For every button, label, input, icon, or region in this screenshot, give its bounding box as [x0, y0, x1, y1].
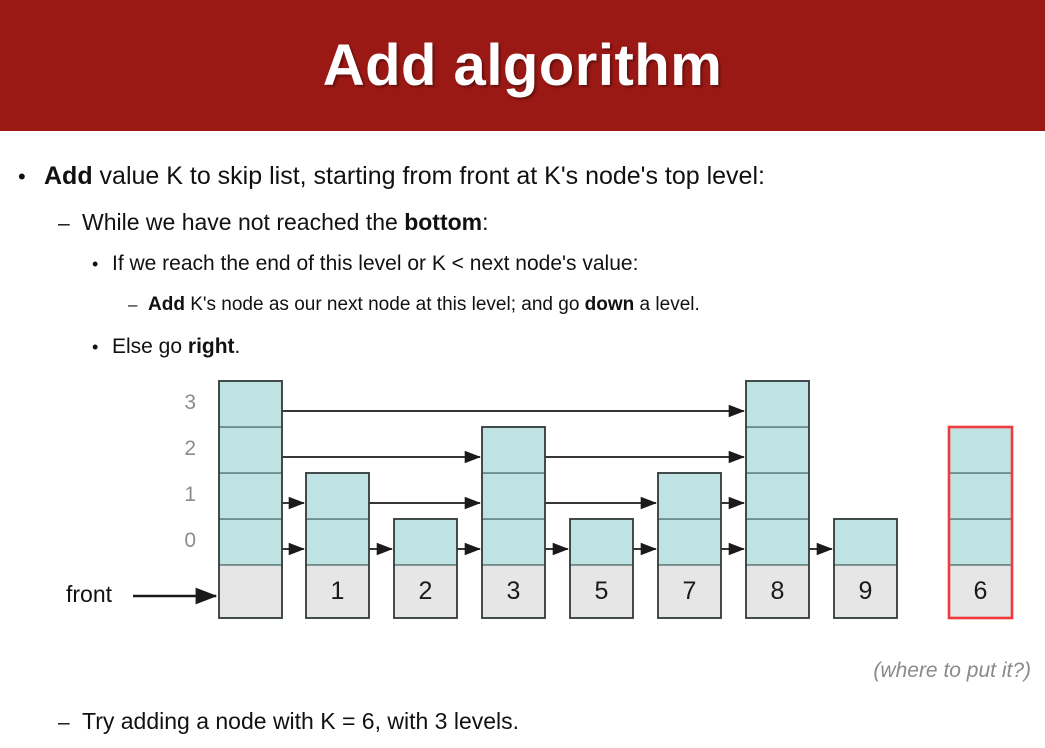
footnote-where-to-put-it: (where to put it?) [873, 659, 1031, 683]
bullet-level3-else-post: . [235, 335, 241, 358]
bullet-marker-dot-icon: • [92, 254, 112, 275]
bullet-level1-rest: value K to skip list, starting from fron… [93, 162, 765, 190]
node-value-2: 2 [394, 577, 457, 606]
bullet-level1-text: Add value K to skip list, starting from … [44, 162, 765, 191]
bullet-marker-dash-icon: – [58, 212, 82, 236]
bullet-level3-else: • Else go right. [92, 335, 240, 359]
node-value-5: 5 [570, 577, 633, 606]
node-value-6: 6 [949, 577, 1012, 606]
bullet-marker-dash-icon: – [58, 711, 82, 735]
node-value-1: 1 [306, 577, 369, 606]
bullet-level1-bold: Add [44, 162, 93, 190]
bullet-try-adding: – Try adding a node with K = 6, with 3 l… [58, 708, 519, 735]
node-value-9: 9 [834, 577, 897, 606]
null-pointer-slash-8-l3 [747, 382, 808, 426]
level-label-0: 0 [168, 529, 196, 553]
node-value-8: 8 [746, 577, 809, 606]
bullet-level2-bold: bottom [404, 209, 482, 235]
level-label-1: 1 [168, 483, 196, 507]
front-label: front [66, 581, 112, 608]
level-label-3: 3 [168, 391, 196, 415]
node-value-7: 7 [658, 577, 721, 606]
bullet-marker-dot-icon: • [92, 337, 112, 358]
page-title: Add algorithm [323, 32, 723, 99]
bullet-level2: – While we have not reached the bottom: [58, 209, 489, 236]
null-pointer-slash-9-l0 [835, 520, 896, 564]
bullet-level3-else-pre: Else go [112, 335, 188, 358]
level-label-2: 2 [168, 437, 196, 461]
bullet-level4-bold-add: Add [148, 294, 185, 315]
bullet-level2-text: While we have not reached the bottom: [82, 209, 489, 236]
bullet-level3-else-text: Else go right. [112, 335, 240, 359]
bullet-level4-mid: K's node as our next node at this level;… [185, 294, 585, 315]
null-pointer-slash-8-l2 [747, 428, 808, 472]
skiplist-node-front [219, 381, 282, 618]
bullet-level3-if-text: If we reach the end of this level or K <… [112, 252, 638, 276]
bullet-marker-dot-icon: • [18, 164, 44, 190]
bullet-level4-post: a level. [634, 294, 699, 315]
bullet-level1: • Add value K to skip list, starting fro… [18, 162, 765, 191]
bullet-level4-bold-down: down [585, 294, 635, 315]
node-value-3: 3 [482, 577, 545, 606]
bullet-marker-dash-icon: – [128, 295, 148, 315]
pointer-arrows-layer [256, 382, 896, 564]
bullet-level3-else-bold: right [188, 335, 235, 358]
bullet-level4-text: Add K's node as our next node at this le… [148, 294, 700, 316]
bullet-level2-post: : [482, 209, 488, 235]
null-pointer-slash-8-l1 [747, 474, 808, 518]
bullet-try-adding-text: Try adding a node with K = 6, with 3 lev… [82, 708, 519, 735]
bullet-level4-add: – Add K's node as our next node at this … [128, 294, 700, 316]
bullet-level2-pre: While we have not reached the [82, 209, 404, 235]
bullet-level3-if: • If we reach the end of this level or K… [92, 252, 638, 276]
slide-title-banner: Add algorithm [0, 0, 1045, 131]
